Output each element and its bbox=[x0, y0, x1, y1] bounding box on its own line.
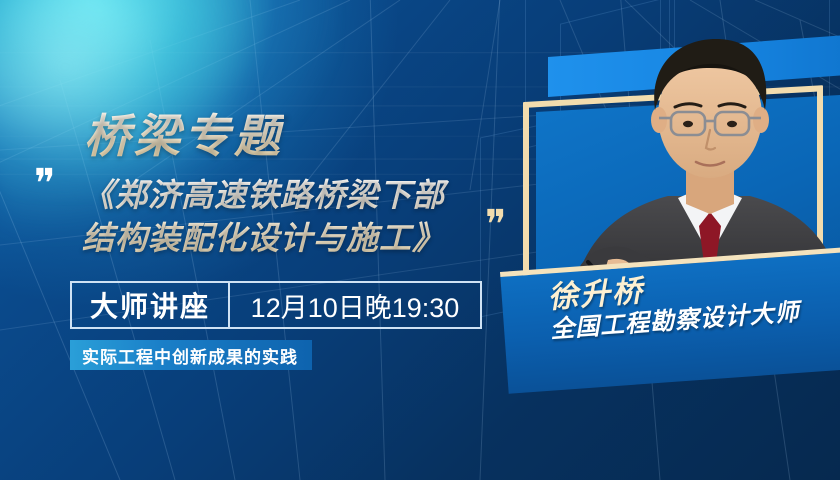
lecture-title-line-2: 结构装配化设计与施工》 bbox=[82, 217, 502, 260]
lecture-title: 《郑济高速铁路桥梁下部 结构装配化设计与施工》 bbox=[82, 174, 502, 260]
badge-label: 大师讲座 bbox=[72, 283, 230, 327]
badge-datetime: 12月10日晚19:30 bbox=[230, 283, 480, 327]
quote-open-icon: ❞ bbox=[34, 164, 53, 204]
page-title: 桥梁专题 bbox=[84, 100, 284, 166]
quote-close-icon: ❞ bbox=[485, 205, 504, 245]
lecture-badge: 大师讲座 12月10日晚19:30 bbox=[70, 281, 482, 329]
poster-canvas: 桥梁专题 ❞ 《郑济高速铁路桥梁下部 结构装配化设计与施工》 ❞ 大师讲座 12… bbox=[0, 0, 840, 480]
subtitle-bar: 实际工程中创新成果的实践 bbox=[70, 340, 312, 370]
lecture-title-line-1: 《郑济高速铁路桥梁下部 bbox=[82, 174, 502, 217]
